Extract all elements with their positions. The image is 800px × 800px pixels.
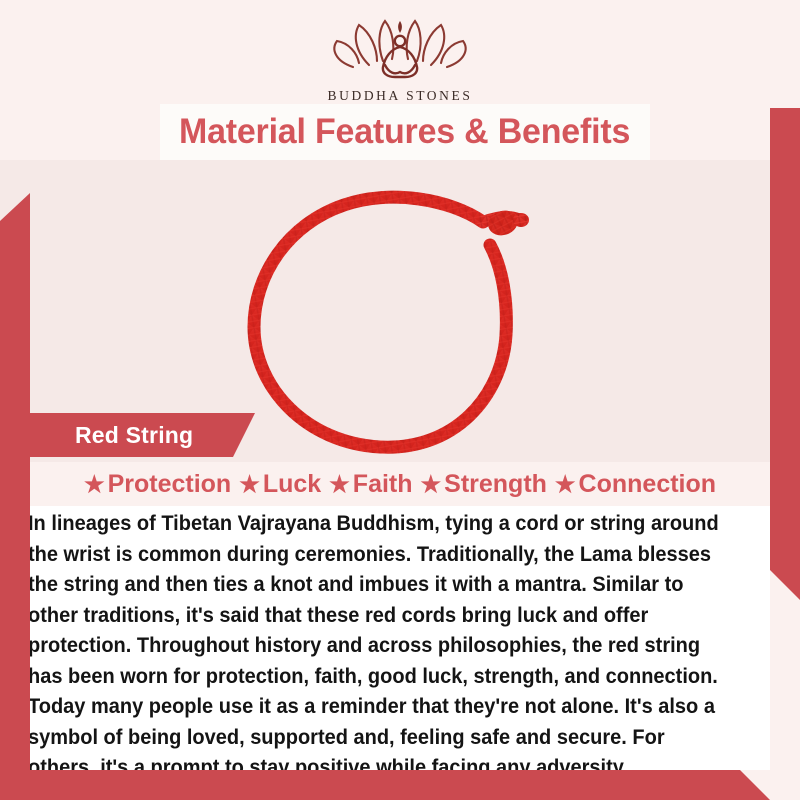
benefits-row: ★ Protection ★ Luck ★ Faith ★ Strength ★… (30, 462, 770, 506)
description-text: In lineages of Tibetan Vajrayana Buddhis… (28, 508, 724, 783)
star-icon: ★ (421, 473, 442, 496)
title-banner: Material Features & Benefits (160, 104, 650, 160)
benefit-item-faith: ★ Faith (329, 470, 412, 499)
star-icon: ★ (239, 473, 260, 496)
lotus-meditation-icon (325, 15, 475, 87)
star-icon: ★ (84, 473, 105, 496)
bracelet-cord-overlay (254, 197, 506, 447)
benefit-item-protection: ★ Protection (84, 470, 231, 499)
frame-bottom (0, 770, 800, 800)
poster-root: BUDDHA STONES Material Features & Benefi… (0, 0, 800, 800)
bracelet-knot-end (513, 213, 529, 227)
brand-name: BUDDHA STONES (328, 88, 473, 104)
benefit-item-luck: ★ Luck (239, 470, 321, 499)
product-label-ribbon: Red String (30, 413, 255, 457)
star-icon: ★ (555, 473, 576, 496)
page-title: Material Features & Benefits (179, 112, 630, 152)
benefit-label: Luck (263, 470, 321, 499)
frame-left (0, 193, 30, 800)
benefit-item-connection: ★ Connection (555, 470, 716, 499)
benefit-label: Faith (353, 470, 413, 499)
benefit-label: Connection (579, 470, 717, 499)
benefit-label: Strength (444, 470, 547, 499)
benefit-item-strength: ★ Strength (421, 470, 547, 499)
star-icon: ★ (329, 473, 350, 496)
product-label: Red String (75, 422, 193, 449)
red-braided-string-bracelet-icon (240, 175, 560, 475)
benefit-label: Protection (108, 470, 232, 499)
brand-header: BUDDHA STONES (0, 0, 800, 108)
